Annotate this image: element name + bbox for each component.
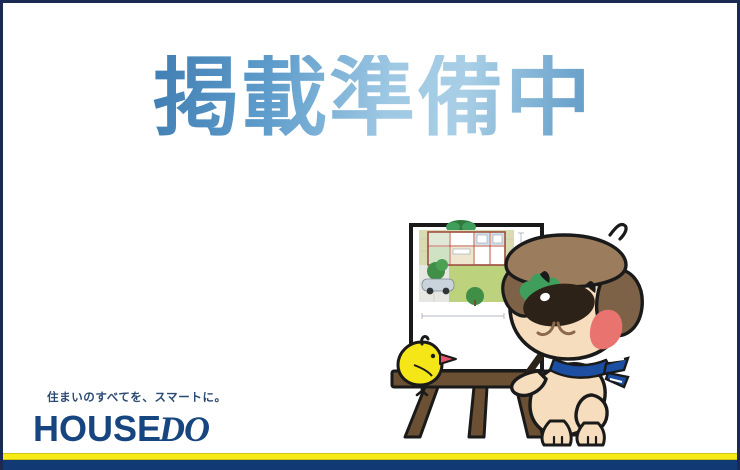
brand-tagline: 住まいのすべてを、スマートに。 (47, 389, 333, 405)
brand-footer: 住まいのすべてを、スマートに。 HOUSEDO (33, 389, 333, 447)
accent-bar-navy (3, 460, 740, 470)
accent-bar-yellow (3, 453, 740, 460)
placeholder-listing-image: 掲載準備中 (0, 0, 740, 470)
illustration-dog-painting (378, 199, 718, 449)
page-title: 掲載準備中 (3, 55, 740, 141)
house-do-logo: HOUSEDO (33, 411, 333, 447)
logo-text-house: HOUSE (33, 408, 161, 449)
logo-text-do: DO (159, 409, 209, 449)
